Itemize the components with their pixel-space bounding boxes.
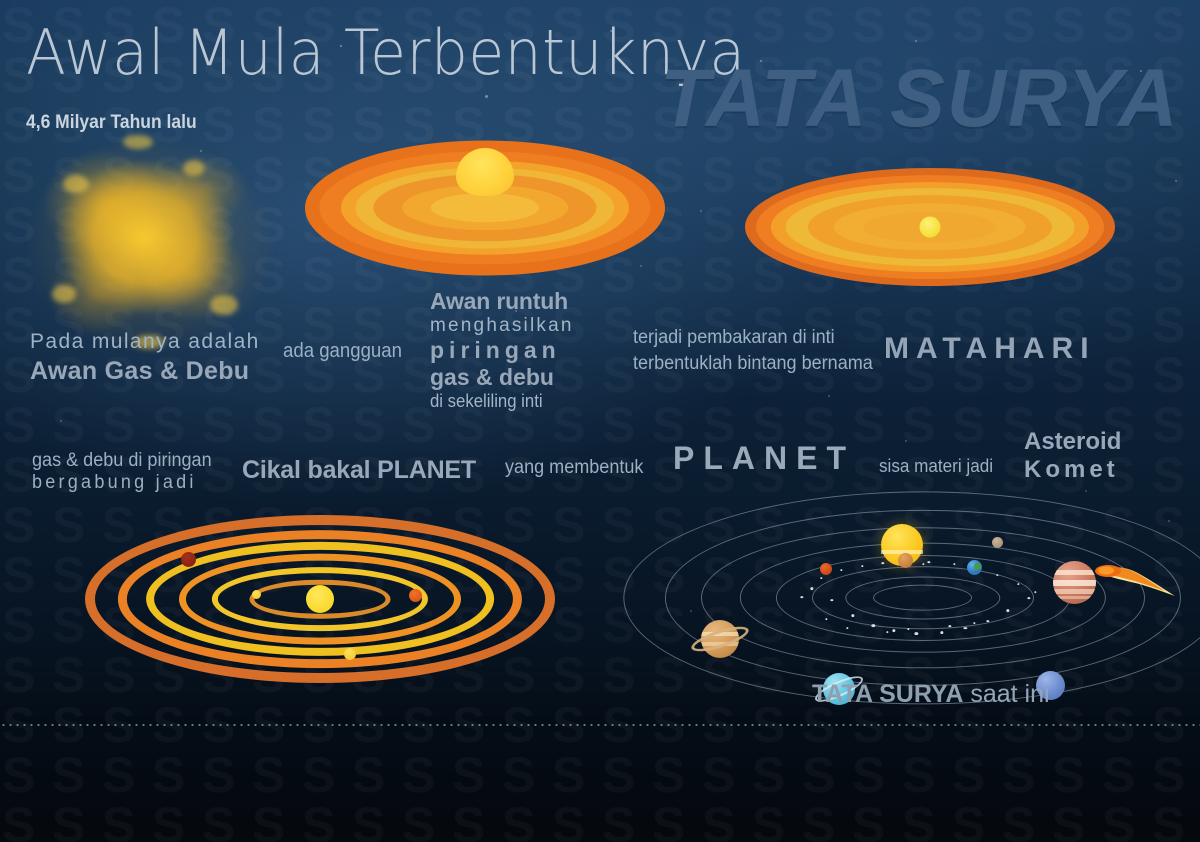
planet-venus bbox=[898, 553, 913, 568]
caption-gas-cloud: Pada mulanya adalah Awan Gas & Debu bbox=[30, 330, 260, 386]
caption-protoplanets-line1: gas & debu di piringan bbox=[32, 450, 212, 472]
caption-collapse-line5: di sekeliling inti bbox=[430, 391, 564, 412]
caption-sisa-materi: sisa materi jadi bbox=[879, 456, 993, 477]
label-cikal-bakal-planet: Cikal bakal PLANET bbox=[242, 456, 476, 485]
planet-mars bbox=[820, 563, 832, 575]
caption-star-formation-line1: terjadi pembakaran di inti bbox=[633, 325, 873, 351]
collapsing-cloud-disc-illustration bbox=[305, 140, 665, 275]
planet-jupiter bbox=[1053, 561, 1096, 604]
caption-collapse-line1: Awan runtuh bbox=[430, 288, 574, 315]
caption-star-formation-line2: terbentuklah bintang bernama bbox=[633, 351, 873, 377]
label-matahari: MATAHARI bbox=[884, 332, 1096, 366]
comet-illustration bbox=[1095, 558, 1195, 598]
caption-gas-cloud-line2: Awan Gas & Debu bbox=[30, 357, 260, 386]
infographic-poster: Awal Mula Terbentuknya 4,6 Milyar Tahun … bbox=[0, 0, 1200, 842]
caption-yang-membentuk: yang membentuk bbox=[505, 457, 643, 479]
caption-collapse-line4: gas & debu bbox=[430, 364, 574, 391]
footer: LANGITSELATAN * ASTRO 101 * bbox=[0, 726, 1200, 842]
page-title-emphasis: TATA SURYA bbox=[660, 58, 1180, 140]
caption-collapse: Awan runtuh menghasilkan piringan gas & … bbox=[430, 288, 574, 412]
young-sun bbox=[306, 585, 334, 613]
caption-collapse-line3: piringan bbox=[430, 337, 574, 364]
label-asteroid: Asteroid bbox=[1024, 428, 1121, 456]
caption-collapse-line2: menghasilkan bbox=[430, 315, 574, 337]
comet-icon bbox=[1095, 558, 1195, 598]
new-star-core bbox=[920, 217, 941, 238]
planet-mercury bbox=[992, 537, 1003, 548]
page-title: Awal Mula Terbentuknya bbox=[26, 22, 746, 84]
earth-landmass bbox=[974, 563, 981, 570]
caption-disturbance: ada gangguan bbox=[283, 340, 411, 363]
protoplanetary-disc-illustration bbox=[85, 515, 555, 683]
planet-saturn bbox=[695, 614, 745, 664]
star-formation-disc-illustration bbox=[745, 168, 1115, 286]
label-komet: Komet bbox=[1024, 456, 1121, 484]
label-asteroid-komet: Asteroid Komet bbox=[1024, 428, 1121, 484]
caption-protoplanets-line2: bergabung jadi bbox=[32, 472, 212, 494]
planetesimal bbox=[344, 648, 356, 660]
caption-gas-cloud-line1: Pada mulanya adalah bbox=[30, 330, 260, 354]
caption-protoplanets: gas & debu di piringan bergabung jadi bbox=[32, 450, 221, 494]
label-tata-surya-today-bold: TATA SURYA bbox=[812, 680, 963, 708]
planetesimal bbox=[252, 590, 261, 599]
caption-disturbance-label: ada gangguan bbox=[283, 340, 402, 363]
label-planet: PLANET bbox=[673, 440, 855, 477]
asteroid-belt bbox=[795, 561, 1050, 635]
label-tata-surya-today-light: saat ini bbox=[963, 680, 1049, 708]
label-tata-surya-today: TATA SURYA saat ini bbox=[812, 680, 1050, 709]
caption-star-formation: terjadi pembakaran di inti terbentuklah … bbox=[633, 325, 885, 376]
